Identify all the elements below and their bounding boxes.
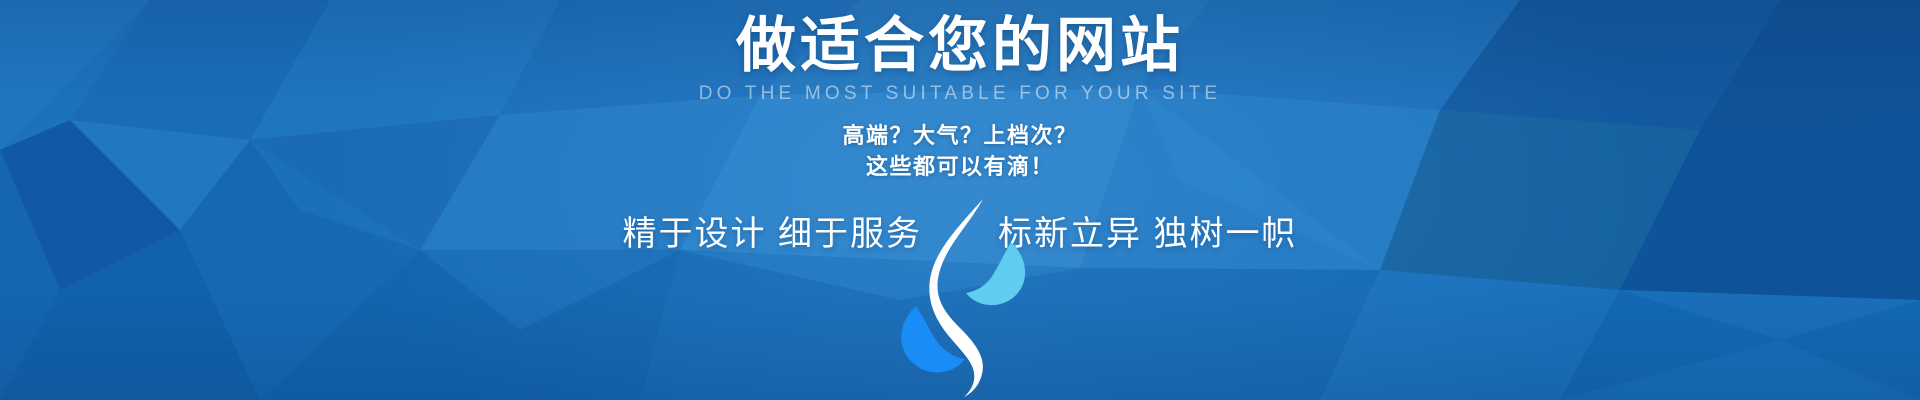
page-title: 做适合您的网站	[0, 8, 1920, 84]
slogan-left: 精于设计 细于服务	[0, 212, 922, 256]
tagline-line-1: 高端？大气？上档次？	[0, 120, 1920, 151]
tagline-line-2: 这些都可以有滴！	[0, 151, 1920, 182]
promo-banner: 做适合您的网站 DO THE MOST SUITABLE FOR YOUR SI…	[0, 0, 1920, 400]
tagline-block: 高端？大气？上档次？ 这些都可以有滴！	[0, 120, 1920, 182]
logo-leaf-upper-shape	[966, 242, 1025, 305]
leaf-swirl-logo	[882, 196, 1038, 400]
leaf-swirl-logo-icon	[882, 196, 1038, 400]
english-subtitle: DO THE MOST SUITABLE FOR YOUR SITE	[0, 82, 1920, 106]
banner-content: 做适合您的网站 DO THE MOST SUITABLE FOR YOUR SI…	[0, 0, 1920, 400]
slogan-right-container: 标新立异 独树一帜	[976, 212, 1920, 256]
slogan-left-container: 精于设计 细于服务	[0, 212, 944, 256]
slogan-right: 标新立异 独树一帜	[998, 212, 1920, 256]
